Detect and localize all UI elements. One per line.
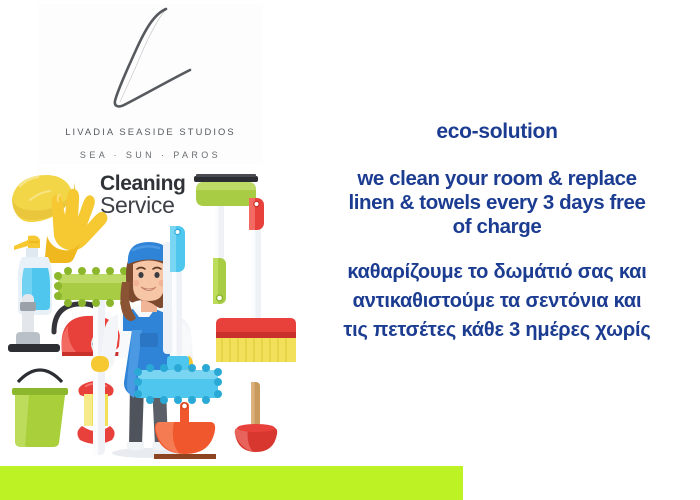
greek-line-1: καθαρίζουμε το δωμάτιό σας και — [294, 258, 700, 287]
brand-name-text: LIVADIA SEASIDE STUDIOS — [38, 126, 263, 137]
subheadline-line-1: we clean your room & replace — [294, 167, 700, 191]
marketing-copy-panel: eco-solution we clean your room & replac… — [294, 0, 700, 466]
promotional-poster: LIVADIA SEASIDE STUDIOS SEA · SUN · PARO… — [0, 0, 700, 500]
headline-eco-solution: eco-solution — [294, 120, 700, 144]
rubber-gloves-icon — [45, 189, 107, 263]
greek-line-2: αντικαθιστούμε τα σεντόνια και — [294, 287, 700, 316]
greek-translation-block: καθαρίζουμε το δωμάτιό σας και αντικαθισ… — [294, 258, 700, 344]
brand-tagline-text: SEA · SUN · PAROS — [38, 150, 263, 160]
greek-line-3: τις πετσέτες κάθε 3 ημέρες χωρίς — [294, 316, 700, 345]
left-visual-panel: LIVADIA SEASIDE STUDIOS SEA · SUN · PARO… — [0, 0, 300, 466]
bottom-accent-band — [0, 466, 463, 500]
brand-logo-block: LIVADIA SEASIDE STUDIOS SEA · SUN · PARO… — [38, 4, 263, 164]
green-brush-icon — [213, 258, 226, 304]
red-broom-icon — [216, 198, 296, 362]
script-letter-l-logo-icon — [62, 4, 232, 112]
cleaning-tools-illustration — [0, 170, 300, 462]
plunger-icon — [235, 382, 277, 452]
subheadline-block: we clean your room & replace linen & tow… — [294, 167, 700, 239]
bucket-icon — [12, 370, 68, 447]
subheadline-line-2: linen & towels every 3 days free — [294, 191, 700, 215]
subheadline-line-3: of charge — [294, 215, 700, 239]
